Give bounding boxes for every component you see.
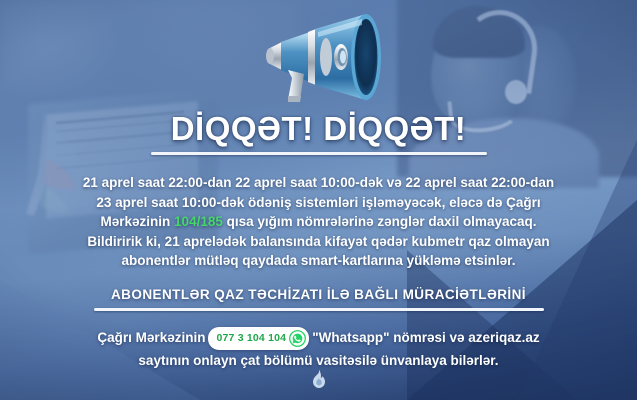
whatsapp-number: 077 3 104 104 [216, 328, 286, 349]
announcement-body: 21 aprel saat 22:00-dan 22 aprel saat 10… [17, 173, 621, 271]
contact-middle: "Whatsapp" nömrəsi və azeriqaz.az [312, 330, 539, 345]
body-line-4: Bildiririk ki, 21 aprelədək balansında k… [17, 232, 621, 252]
whatsapp-number-badge[interactable]: 077 3 104 104 [208, 327, 309, 350]
body-line-3-pre: Mərkəzinin [101, 214, 175, 229]
contact-prefix: Çağrı Mərkəzinin [97, 330, 205, 345]
body-line-3-post: qısa yığım nömrələrinə zənglər daxil olm… [223, 214, 537, 229]
subtitle-heading: ABONENTLƏR QAZ TƏCHİZATI İLƏ BAĞLI MÜRAC… [111, 287, 526, 302]
banner-content: DİQQƏT! DİQQƏT! 21 aprel saat 22:00-dan … [0, 0, 637, 400]
body-line-2: 23 aprel saat 10:00-dək ödəniş sistemlər… [17, 193, 621, 213]
page-title: DİQQƏT! DİQQƏT! [171, 112, 467, 145]
short-numbers-highlight: 104/185 [174, 214, 223, 229]
body-line-3: Mərkəzinin 104/185 qısa yığım nömrələrin… [17, 212, 621, 232]
body-line-5: abonentlər mütləq qaydada smart-kartları… [17, 251, 621, 271]
contact-info: Çağrı Mərkəzinin077 3 104 104"Whatsapp" … [29, 327, 609, 371]
announcement-banner: DİQQƏT! DİQQƏT! 21 aprel saat 22:00-dan … [0, 0, 637, 400]
subtitle-underline [94, 308, 544, 311]
contact-line-1: Çağrı Mərkəzinin077 3 104 104"Whatsapp" … [29, 327, 609, 350]
title-underline [151, 152, 487, 155]
body-line-1: 21 aprel saat 22:00-dan 22 aprel saat 10… [17, 173, 621, 193]
flame-logo-icon [309, 368, 329, 392]
whatsapp-icon[interactable] [289, 330, 306, 347]
